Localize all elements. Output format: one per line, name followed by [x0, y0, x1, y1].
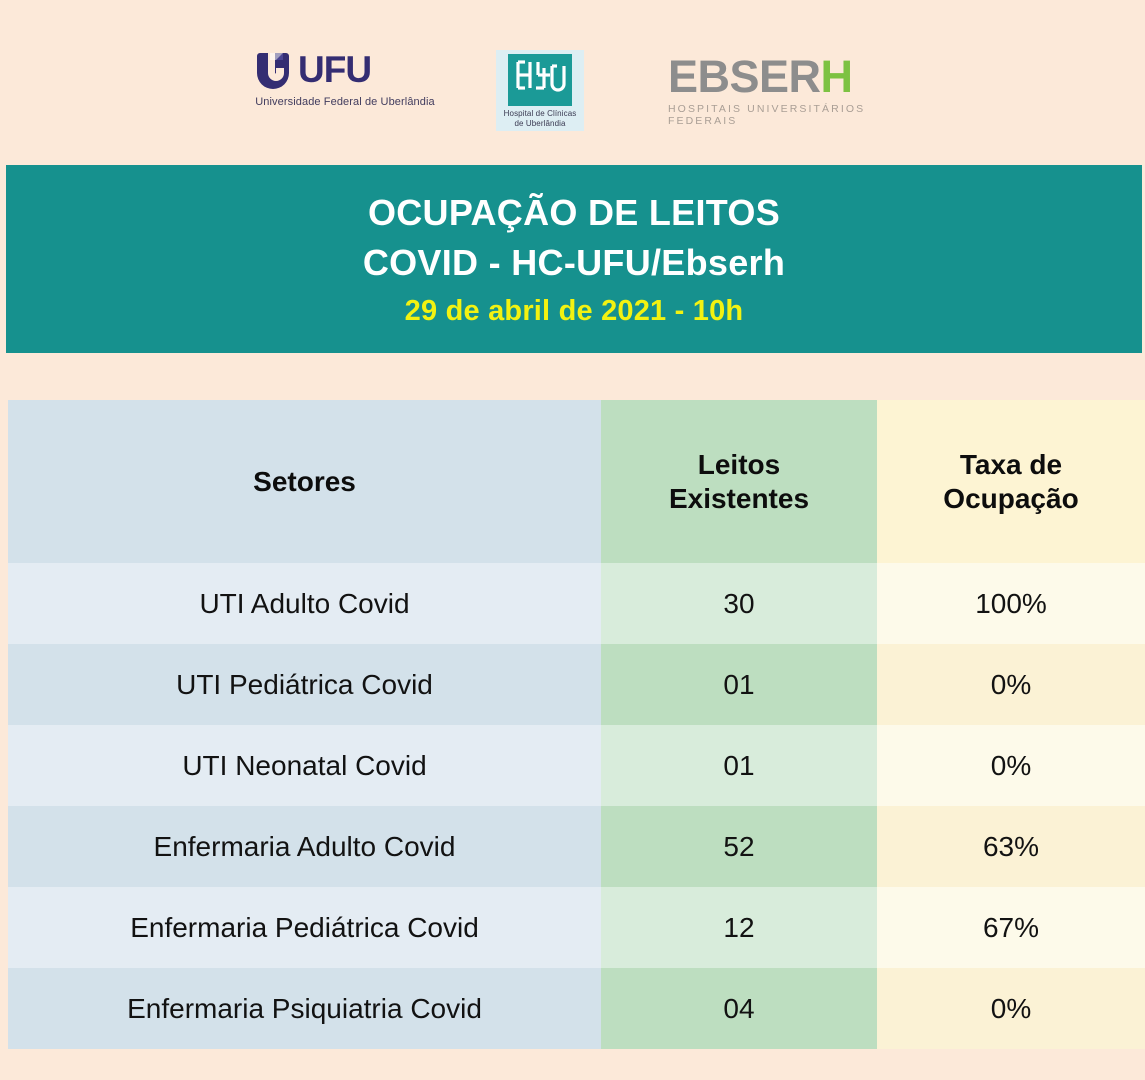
ufu-wordmark: UFU	[298, 50, 371, 90]
cell-setor: Enfermaria Psiquiatria Covid	[8, 968, 601, 1049]
cell-taxa: 0%	[877, 968, 1145, 1049]
table-header: Setores Leitos Existentes Taxa de Ocupaç…	[8, 400, 1145, 563]
infographic-page: UFU Universidade Federal de Uberlândia	[0, 0, 1145, 1080]
table-row: UTI Adulto Covid 30 100%	[8, 563, 1145, 644]
cell-setor: UTI Neonatal Covid	[8, 725, 601, 806]
hcu-monogram-svg	[508, 54, 572, 106]
cell-leitos: 01	[601, 644, 877, 725]
cell-taxa: 0%	[877, 644, 1145, 725]
ebserh-subtitle: HOSPITAIS UNIVERSITÁRIOS FEDERAIS	[668, 103, 900, 127]
hc-ufu-logo: Hospital de Clínicas de Uberlândia	[496, 50, 584, 131]
ufu-subtitle: Universidade Federal de Uberlândia	[255, 96, 435, 109]
cell-taxa: 67%	[877, 887, 1145, 968]
ebserh-wordmark-green: H	[821, 51, 853, 102]
table-row: Enfermaria Psiquiatria Covid 04 0%	[8, 968, 1145, 1049]
column-header-leitos-line1: Leitos	[669, 448, 809, 482]
banner-title-line1: OCUPAÇÃO DE LEITOS	[368, 188, 780, 238]
cell-taxa: 0%	[877, 725, 1145, 806]
column-header-leitos-line2: Existentes	[669, 482, 809, 516]
column-header-setores: Setores	[8, 400, 601, 563]
title-banner: OCUPAÇÃO DE LEITOS COVID - HC-UFU/Ebserh…	[6, 165, 1142, 353]
cell-taxa: 100%	[877, 563, 1145, 644]
table-header-row: Setores Leitos Existentes Taxa de Ocupaç…	[8, 400, 1145, 563]
cell-leitos: 52	[601, 806, 877, 887]
cell-setor: Enfermaria Adulto Covid	[8, 806, 601, 887]
ebserh-wordmark-grey: EBSER	[668, 51, 821, 102]
cell-leitos: 01	[601, 725, 877, 806]
column-header-taxa-ocupacao: Taxa de Ocupação	[877, 400, 1145, 563]
column-header-taxa-line1: Taxa de	[943, 448, 1078, 482]
ufu-logo: UFU Universidade Federal de Uberlândia	[255, 48, 435, 109]
column-header-taxa-line2: Ocupação	[943, 482, 1078, 516]
banner-date: 29 de abril de 2021 - 10h	[405, 290, 744, 332]
cell-taxa: 63%	[877, 806, 1145, 887]
cell-setor: UTI Adulto Covid	[8, 563, 601, 644]
hc-ufu-subtitle: Hospital de Clínicas de Uberlândia	[499, 109, 581, 128]
cell-setor: Enfermaria Pediátrica Covid	[8, 887, 601, 968]
logo-strip: UFU Universidade Federal de Uberlândia	[0, 0, 1145, 160]
table-row: Enfermaria Adulto Covid 52 63%	[8, 806, 1145, 887]
hcu-monogram-icon	[508, 54, 572, 106]
column-header-leitos-existentes: Leitos Existentes	[601, 400, 877, 563]
cell-leitos: 12	[601, 887, 877, 968]
cell-setor: UTI Pediátrica Covid	[8, 644, 601, 725]
cell-leitos: 04	[601, 968, 877, 1049]
ebserh-wordmark: EBSERH	[668, 54, 900, 100]
ebserh-logo: EBSERH HOSPITAIS UNIVERSITÁRIOS FEDERAIS	[668, 54, 900, 127]
table-row: Enfermaria Pediátrica Covid 12 67%	[8, 887, 1145, 968]
occupancy-table: Setores Leitos Existentes Taxa de Ocupaç…	[8, 400, 1145, 1049]
table-row: UTI Pediátrica Covid 01 0%	[8, 644, 1145, 725]
ufu-logo-top: UFU	[255, 48, 435, 92]
table-body: UTI Adulto Covid 30 100% UTI Pediátrica …	[8, 563, 1145, 1049]
cell-leitos: 30	[601, 563, 877, 644]
table-row: UTI Neonatal Covid 01 0%	[8, 725, 1145, 806]
banner-title-line2: COVID - HC-UFU/Ebserh	[363, 238, 785, 288]
ufu-pinwheel-icon	[255, 50, 297, 90]
